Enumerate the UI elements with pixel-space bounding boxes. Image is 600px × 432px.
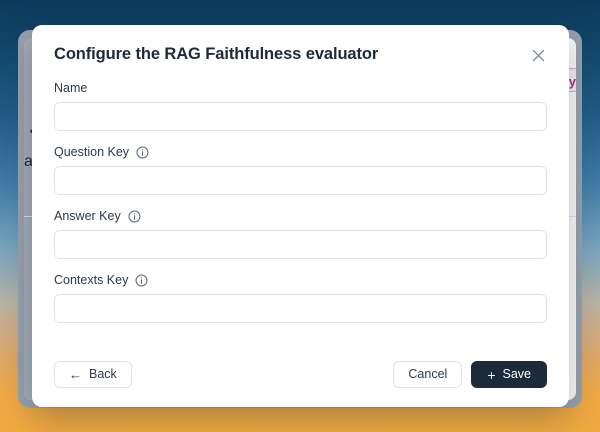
modal-footer: ← Back Cancel + Save	[54, 361, 547, 388]
modal-title: Configure the RAG Faithfulness evaluator	[54, 45, 378, 65]
field-question-key-label-row: Question Key	[54, 146, 547, 159]
cancel-button-label: Cancel	[408, 368, 447, 381]
info-circle-icon[interactable]	[128, 210, 141, 223]
field-answer-key: Answer Key	[54, 210, 547, 259]
save-button-label: Save	[503, 368, 532, 381]
field-question-key: Question Key	[54, 146, 547, 195]
footer-actions: Cancel + Save	[393, 361, 547, 388]
answer-key-input[interactable]	[54, 230, 547, 259]
field-question-key-label: Question Key	[54, 146, 129, 159]
field-contexts-key: Contexts Key	[54, 274, 547, 323]
field-contexts-key-label: Contexts Key	[54, 274, 128, 287]
configure-evaluator-modal: Configure the RAG Faithfulness evaluator…	[32, 25, 569, 407]
back-button[interactable]: ← Back	[54, 361, 132, 388]
save-button[interactable]: + Save	[471, 361, 547, 388]
cancel-button[interactable]: Cancel	[393, 361, 462, 388]
question-key-input[interactable]	[54, 166, 547, 195]
field-name: Name	[54, 82, 547, 131]
field-name-label: Name	[54, 82, 87, 95]
arrow-left-icon: ←	[69, 368, 82, 381]
close-icon[interactable]	[527, 44, 549, 66]
plus-icon: +	[487, 368, 495, 382]
field-name-label-row: Name	[54, 82, 547, 95]
info-circle-icon[interactable]	[135, 274, 148, 287]
modal-header: Configure the RAG Faithfulness evaluator	[54, 45, 547, 66]
field-contexts-key-label-row: Contexts Key	[54, 274, 547, 287]
name-input[interactable]	[54, 102, 547, 131]
back-button-label: Back	[89, 368, 117, 381]
contexts-key-input[interactable]	[54, 294, 547, 323]
field-answer-key-label-row: Answer Key	[54, 210, 547, 223]
info-circle-icon[interactable]	[136, 146, 149, 159]
field-answer-key-label: Answer Key	[54, 210, 121, 223]
